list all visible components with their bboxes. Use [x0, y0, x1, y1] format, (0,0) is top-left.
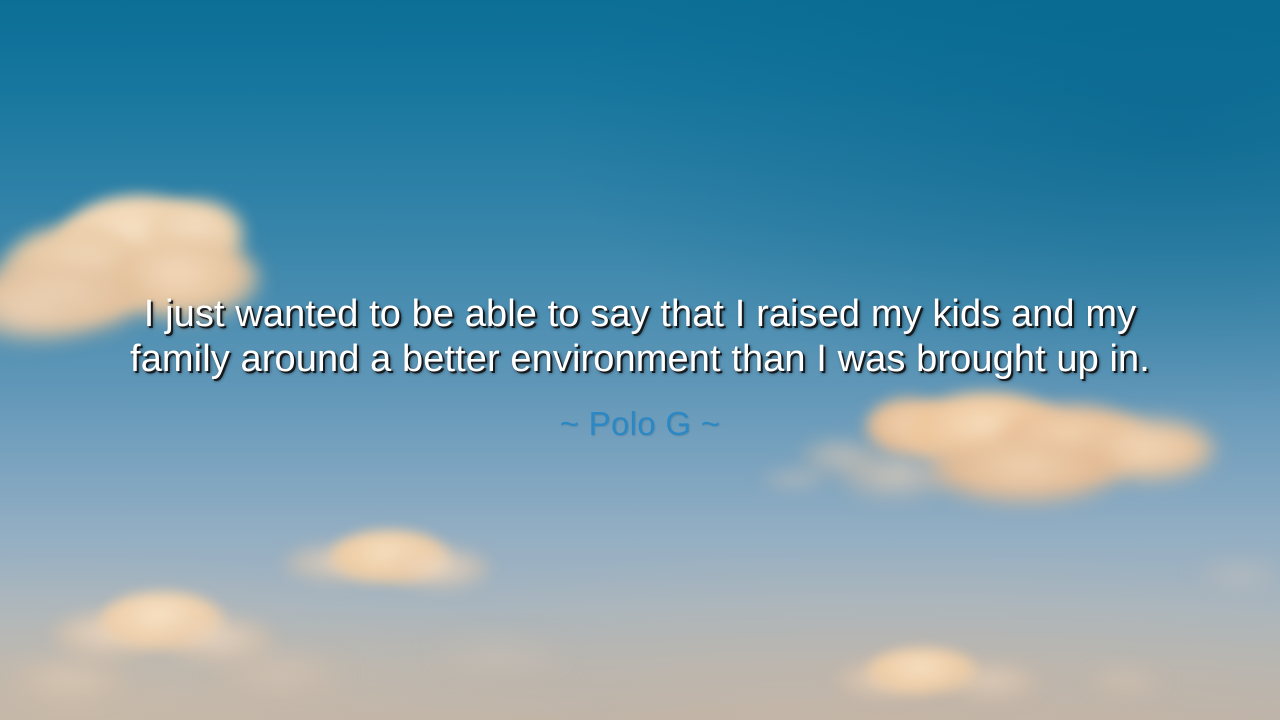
quote-card-canvas: I just wanted to be able to say that I r…	[0, 0, 1280, 720]
quote-attribution: ~ Polo G ~	[60, 404, 1220, 444]
quote-line-2: family around a better environment than …	[60, 337, 1220, 382]
quote-block: I just wanted to be able to say that I r…	[0, 292, 1280, 444]
quote-line-1: I just wanted to be able to say that I r…	[60, 292, 1220, 337]
